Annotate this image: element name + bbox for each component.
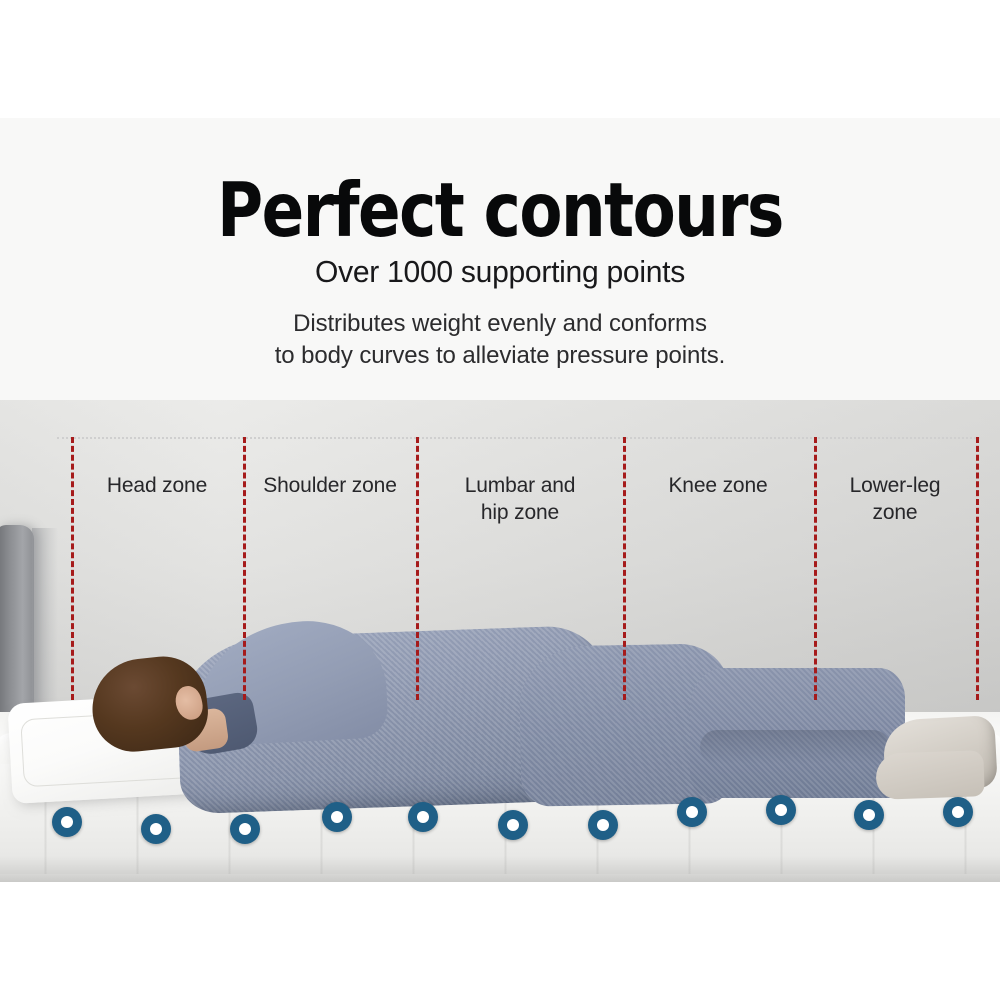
top-white-band <box>0 0 1000 118</box>
body-copy-line-1: Distributes weight evenly and conforms <box>0 308 1000 340</box>
bottom-white-band <box>0 882 1000 1000</box>
page-title: Perfect contours <box>35 168 965 252</box>
sleeper-foot-lower <box>875 750 985 800</box>
bedroom-photo <box>0 400 1000 882</box>
body-copy: Distributes weight evenly and conforms t… <box>0 308 1000 372</box>
bed-base <box>0 874 1000 882</box>
sleeper-leg-crease <box>700 730 890 764</box>
product-feature-image: Perfect contours Over 1000 supporting po… <box>0 0 1000 1000</box>
body-copy-line-2: to body curves to alleviate pressure poi… <box>0 340 1000 372</box>
page-subtitle: Over 1000 supporting points <box>15 252 985 292</box>
